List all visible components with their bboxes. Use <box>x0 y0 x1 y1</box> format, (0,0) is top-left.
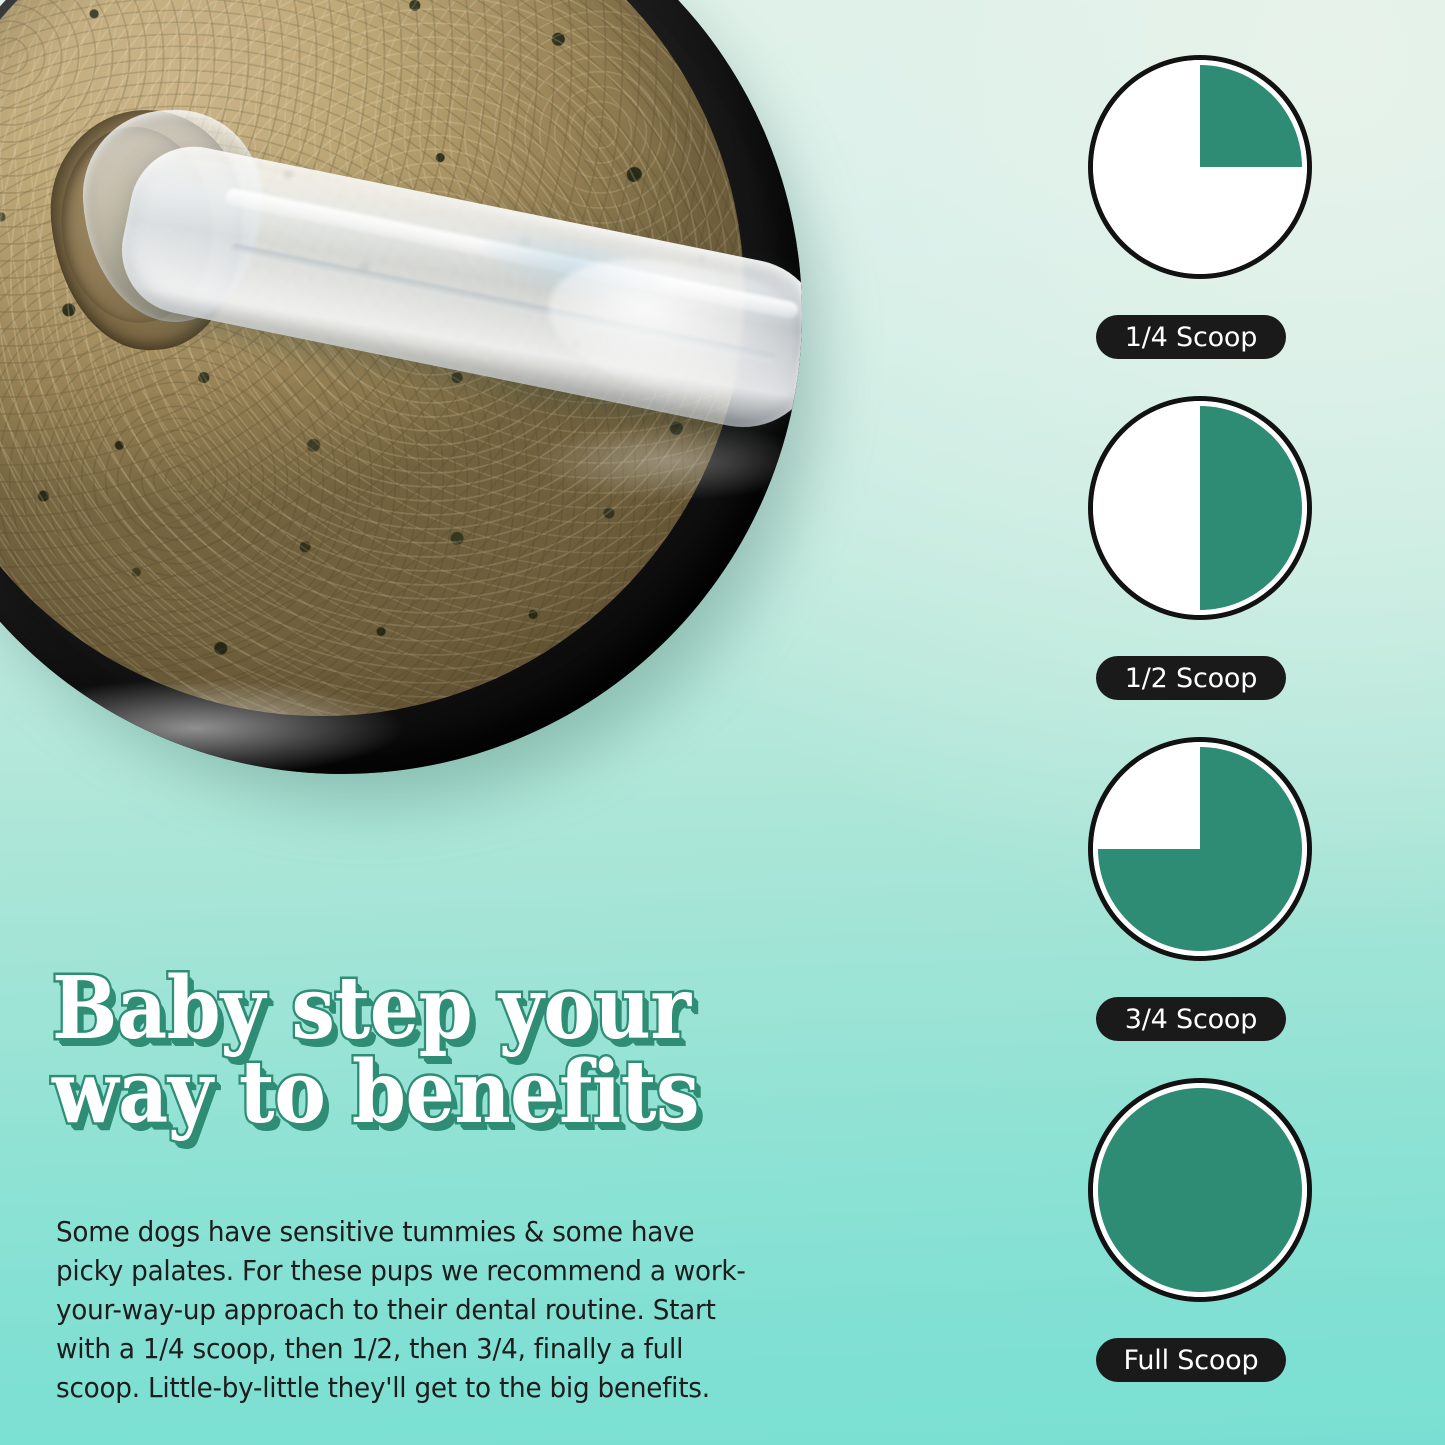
powder-tub <box>0 0 802 774</box>
scoop-label-text: 1/2 Scoop <box>1125 665 1257 692</box>
scoop-dial-full <box>1088 1078 1312 1302</box>
headline: Baby step your way to benefits <box>52 967 790 1136</box>
dial-fill-half <box>1098 406 1302 610</box>
scoop-label-pill-half: 1/2 Scoop <box>1096 656 1286 700</box>
dial-fill-full <box>1098 1088 1302 1292</box>
scoop-label-pill-full: Full Scoop <box>1096 1338 1286 1382</box>
scoop-label-text: Full Scoop <box>1124 1347 1259 1374</box>
scoop-label-pill-quarter: 1/4 Scoop <box>1096 315 1286 359</box>
scoop-label-text: 3/4 Scoop <box>1125 1006 1257 1033</box>
infographic-page: Baby step your way to benefits Some dogs… <box>0 0 1445 1445</box>
scoop-dial-three-quarter <box>1088 737 1312 961</box>
product-photo <box>0 0 872 844</box>
scoop-dial-quarter <box>1088 55 1312 279</box>
scoop-dial-half <box>1088 396 1312 620</box>
scoop-meter-column: 1/4 Scoop 1/2 Scoop 3/4 Scoop <box>1080 0 1330 1445</box>
body-paragraph: Some dogs have sensitive tummies & some … <box>56 1213 763 1408</box>
dial-fill-quarter <box>1098 65 1302 269</box>
scoop-label-text: 1/4 Scoop <box>1125 324 1257 351</box>
scoop-label-pill-three-quarter: 3/4 Scoop <box>1096 997 1286 1041</box>
dial-fill-three-quarter <box>1098 747 1302 951</box>
